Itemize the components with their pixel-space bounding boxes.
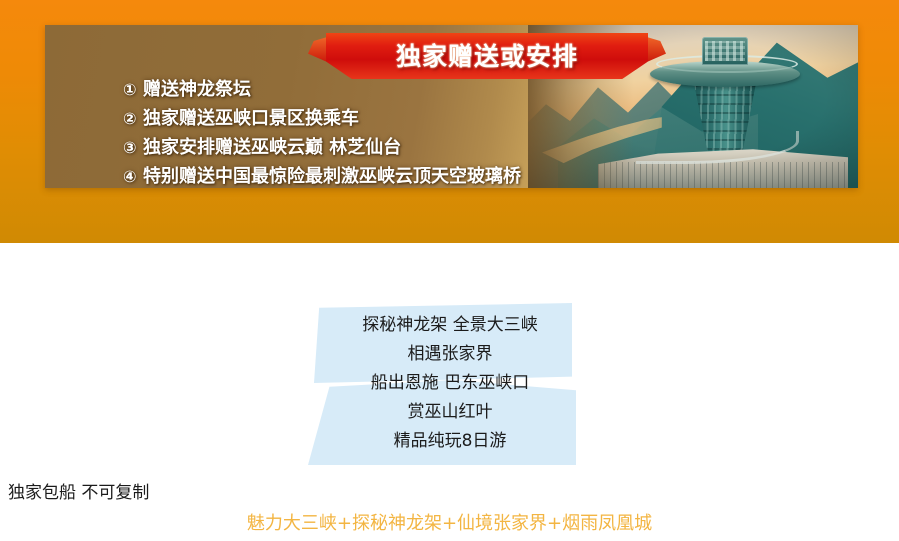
highlight-lines: 探秘神龙架 全景大三峡 相遇张家界 船出恩施 巴东巫峡口 赏巫山红叶 精品纯玩8…	[300, 311, 600, 456]
perk-item: ② 独家赠送巫峡口景区换乘车	[123, 104, 633, 133]
perk-list: ① 赠送神龙祭坛 ② 独家赠送巫峡口景区换乘车 ③ 独家安排赠送巫峡云巅 林芝仙…	[123, 75, 633, 188]
perk-text: 独家赠送巫峡口景区换乘车	[143, 104, 359, 130]
ribbon-title: 独家赠送或安排	[326, 37, 648, 73]
perk-number: ②	[123, 109, 143, 128]
highlight-line: 赏巫山红叶	[300, 398, 600, 427]
perk-number: ④	[123, 167, 143, 186]
promo-panel: 独家赠送或安排 ① 赠送神龙祭坛 ② 独家赠送巫峡口景区换乘车 ③ 独家安排赠送…	[45, 25, 858, 188]
ribbon-banner: 独家赠送或安排	[326, 33, 648, 79]
perk-text: 特别赠送中国最惊险最刺激巫峡云顶天空玻璃桥	[143, 162, 521, 188]
tour-highlight-block: 探秘神龙架 全景大三峡 相遇张家界 船出恩施 巴东巫峡口 赏巫山红叶 精品纯玩8…	[300, 295, 600, 470]
highlight-line: 船出恩施 巴东巫峡口	[300, 369, 600, 398]
perk-number: ①	[123, 80, 143, 99]
highlight-line: 相遇张家界	[300, 340, 600, 369]
route-line: 魅力大三峡+探秘神龙架+仙境张家界+烟雨凤凰城	[0, 509, 899, 535]
perk-number: ③	[123, 138, 143, 157]
promo-banner: 独家赠送或安排 ① 赠送神龙祭坛 ② 独家赠送巫峡口景区换乘车 ③ 独家安排赠送…	[0, 0, 899, 243]
perk-item: ① 赠送神龙祭坛	[123, 75, 633, 104]
perk-text: 赠送神龙祭坛	[143, 75, 251, 101]
exclusive-note: 独家包船 不可复制	[8, 478, 149, 503]
perk-item: ③ 独家安排赠送巫峡云巅 林芝仙台	[123, 133, 633, 162]
highlight-line: 探秘神龙架 全景大三峡	[300, 311, 600, 340]
perk-item: ④ 特别赠送中国最惊险最刺激巫峡云顶天空玻璃桥	[123, 162, 633, 188]
highlight-line: 精品纯玩8日游	[300, 427, 600, 456]
perk-text: 独家安排赠送巫峡云巅 林芝仙台	[143, 133, 401, 159]
